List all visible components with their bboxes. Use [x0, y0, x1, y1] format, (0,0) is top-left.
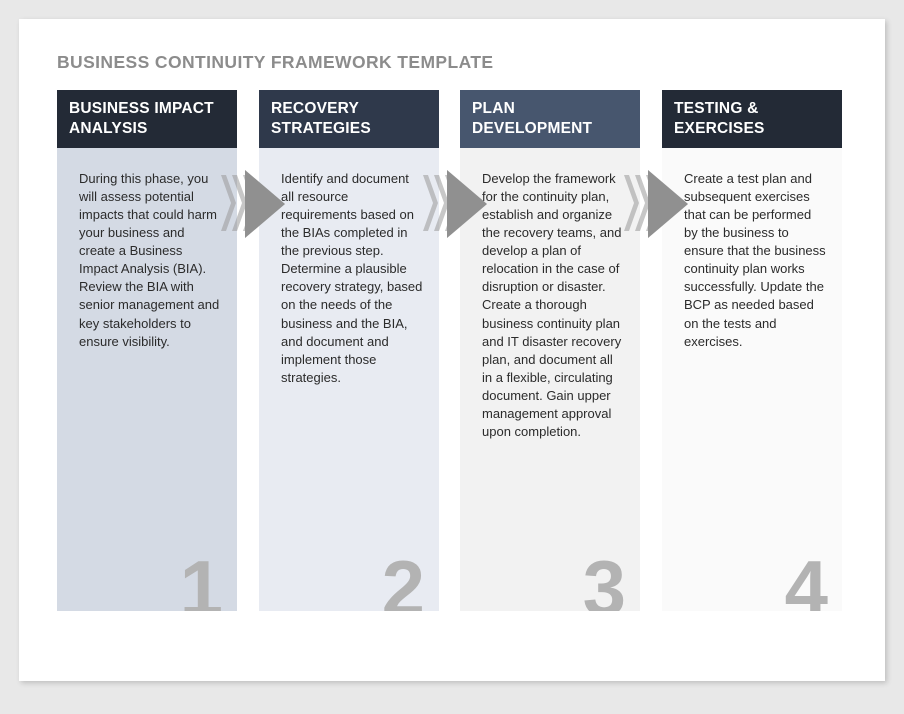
phase-header-3: PLAN DEVELOPMENT: [460, 90, 640, 148]
phase-step-number-2: 2: [382, 549, 425, 611]
phase-step-number-4: 4: [785, 549, 828, 611]
phase-column-3: PLAN DEVELOPMENT Develop the framework f…: [460, 90, 640, 611]
phase-header-4: TESTING & EXERCISES: [662, 90, 842, 148]
phase-description-1: During this phase, you will assess poten…: [79, 170, 223, 351]
phase-description-4: Create a test plan and subsequent exerci…: [684, 170, 828, 351]
phase-column-4: TESTING & EXERCISES Create a test plan a…: [662, 90, 842, 611]
phase-description-3: Develop the framework for the continuity…: [482, 170, 626, 441]
phase-body-4: Create a test plan and subsequent exerci…: [662, 148, 842, 611]
phase-column-1: BUSINESS IMPACT ANALYSIS During this pha…: [57, 90, 237, 611]
phase-column-2: RECOVERY STRATEGIES Identify and documen…: [259, 90, 439, 611]
phase-body-1: During this phase, you will assess poten…: [57, 148, 237, 611]
phase-body-2: Identify and document all resource requi…: [259, 148, 439, 611]
diagram-page-card: BUSINESS CONTINUITY FRAMEWORK TEMPLATE B…: [19, 19, 885, 681]
phase-header-1: BUSINESS IMPACT ANALYSIS: [57, 90, 237, 148]
phase-body-3: Develop the framework for the continuity…: [460, 148, 640, 611]
phase-step-number-3: 3: [583, 549, 626, 611]
phase-columns-container: BUSINESS IMPACT ANALYSIS During this pha…: [19, 19, 885, 681]
phase-header-2: RECOVERY STRATEGIES: [259, 90, 439, 148]
phase-step-number-1: 1: [180, 549, 223, 611]
phase-description-2: Identify and document all resource requi…: [281, 170, 425, 387]
